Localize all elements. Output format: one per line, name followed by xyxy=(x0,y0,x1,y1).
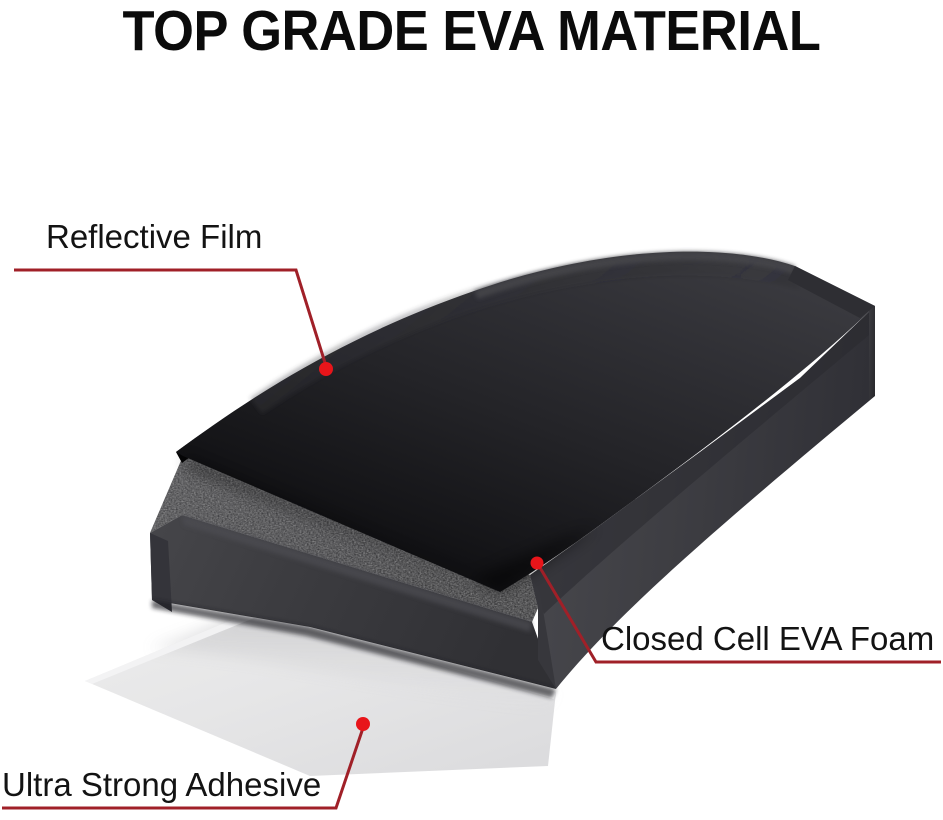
callout-label-ultra-strong-adhesive: Ultra Strong Adhesive xyxy=(2,766,321,804)
infographic-canvas: TOP GRADE EVA MATERIAL xyxy=(0,0,943,820)
callout-leader-reflective-film xyxy=(14,270,333,376)
leader-dot-closed-cell-eva-foam xyxy=(531,557,544,570)
leader-dot-reflective-film xyxy=(319,362,333,376)
eva-material-layer-illustration xyxy=(0,0,943,820)
leader-line-reflective-film xyxy=(14,270,326,366)
callout-label-closed-cell-eva-foam: Closed Cell EVA Foam xyxy=(601,620,934,658)
leader-dot-ultra-strong-adhesive xyxy=(356,717,370,731)
foam-end-cap xyxy=(869,306,875,400)
callout-label-reflective-film: Reflective Film xyxy=(46,218,262,256)
